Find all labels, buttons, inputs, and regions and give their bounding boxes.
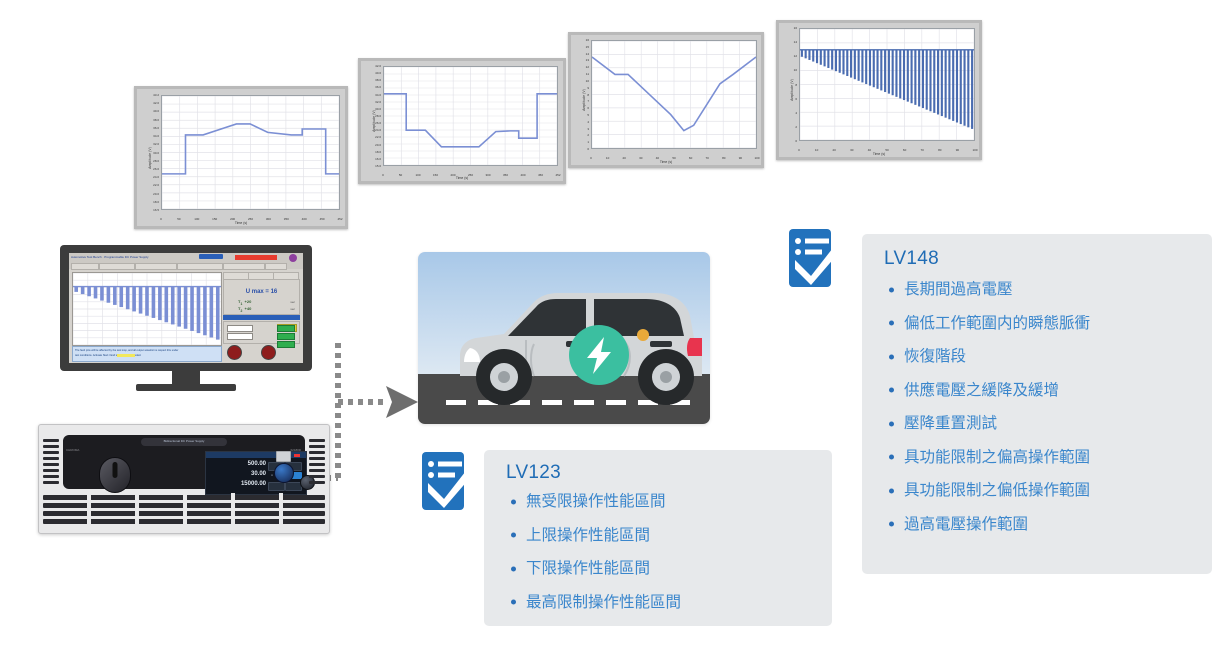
- bar: [884, 50, 886, 92]
- menu-item-2[interactable]: [135, 263, 177, 270]
- bar: [892, 50, 894, 95]
- bar: [956, 50, 958, 123]
- bar: [850, 50, 852, 78]
- software-control-pane: U max = 16 T1 +20 sec T2 +40 sec: [223, 272, 300, 344]
- led-indicator-0: [277, 325, 295, 332]
- section-bar: [223, 315, 300, 320]
- bar: [210, 287, 214, 338]
- control-box: [223, 321, 300, 344]
- y-tick: 15.0: [375, 164, 381, 168]
- software-note: The fault pins will be affected by the t…: [72, 346, 222, 362]
- bar: [899, 50, 901, 99]
- y-tick: 7: [587, 99, 589, 103]
- bar: [107, 287, 111, 303]
- readout-box: U max = 16 T1 +20 sec T2 +40 sec: [223, 279, 300, 315]
- psu-front-face: Bidirectional DC Power Supply CHROMA 621…: [63, 435, 305, 489]
- bar: [197, 287, 201, 334]
- y-tick: 36.0: [375, 85, 381, 89]
- psu-value-1: 30.00: [251, 471, 266, 477]
- y-tick: 18.0: [375, 150, 381, 154]
- panel-lv123-title: LV123: [506, 462, 561, 484]
- list-item: 最高限制操作性能區間: [510, 595, 681, 611]
- note-highlight: [117, 354, 135, 357]
- vent-r-6: [309, 475, 325, 478]
- bar: [861, 50, 863, 83]
- y-tick: 14: [586, 52, 589, 56]
- readout-row-1: T2 +40: [238, 306, 251, 313]
- software-title: Automotive Test Bench · Programmable DC …: [71, 255, 148, 259]
- bar: [145, 287, 149, 316]
- bar: [812, 50, 814, 62]
- y-tick: 8: [795, 83, 797, 87]
- y-tick: 22.0: [153, 183, 159, 187]
- psu-value-0: 500.00: [248, 461, 266, 467]
- vent-r-3: [309, 457, 325, 460]
- led-indicator-2: [277, 341, 295, 348]
- y-tick: 16: [794, 26, 797, 30]
- psu-value-2: 15000.00: [241, 481, 266, 487]
- list-item: 具功能限制之偏高操作範圍: [888, 450, 1090, 466]
- vent-l-0: [43, 439, 59, 442]
- y-tick: 9: [587, 86, 589, 90]
- psu-main-dial[interactable]: [99, 457, 131, 493]
- vent-l-6: [43, 475, 59, 478]
- grille-sep-0: [87, 493, 91, 527]
- bar: [216, 287, 220, 340]
- y-tick: 38.0: [375, 78, 381, 82]
- knob-button-1[interactable]: [261, 345, 276, 360]
- psu-lcd-header: [206, 452, 306, 458]
- panel-lv123: LV123 無受限操作性能區間上限操作性能區間下限操作性能區間最高限制操作性能區…: [484, 450, 832, 626]
- software-menubar: [69, 262, 303, 269]
- y-tick: 26.0: [153, 167, 159, 171]
- y-tick: 2: [795, 125, 797, 129]
- bar: [827, 50, 829, 68]
- chart-3-yticks: 012345678910111213141516: [577, 40, 589, 149]
- grille-sep-3: [231, 493, 235, 527]
- bar: [81, 287, 85, 295]
- diagram-canvas: Amplitude (V) 16.518.020.022.024.026.028…: [0, 0, 1230, 664]
- y-tick: 28.0: [375, 114, 381, 118]
- y-tick: 3: [587, 127, 589, 131]
- software-chart-svg: [73, 273, 221, 345]
- taillight: [687, 338, 702, 356]
- bar: [139, 287, 143, 314]
- vent-l-2: [43, 451, 59, 454]
- psu-unit-1: A: [271, 473, 273, 477]
- vent-r-1: [309, 445, 325, 448]
- y-tick: 38.0: [153, 118, 159, 122]
- vent-r-2: [309, 451, 325, 454]
- bar: [846, 50, 848, 76]
- psu-badge-text: Bidirectional DC Power Supply: [164, 439, 205, 443]
- vent-l-1: [43, 445, 59, 448]
- y-tick: 0: [587, 147, 589, 151]
- y-tick: 24.0: [375, 128, 381, 132]
- input-field-1[interactable]: [227, 333, 253, 340]
- bar: [971, 50, 973, 129]
- record-indicator-icon: [294, 454, 300, 457]
- menu-item-5[interactable]: [265, 263, 287, 270]
- wheel-rear: [638, 349, 694, 405]
- bar: [854, 50, 856, 79]
- y-tick: 6: [795, 97, 797, 101]
- y-tick: 42.0: [153, 101, 159, 105]
- chart-2-svg: [384, 67, 557, 165]
- bar: [876, 50, 878, 89]
- bar: [100, 287, 104, 301]
- bar: [824, 50, 826, 67]
- y-tick: 1: [587, 140, 589, 144]
- y-tick: 36.0: [153, 126, 159, 130]
- bar: [126, 287, 130, 310]
- bar: [839, 50, 841, 73]
- monitor-screen: Automotive Test Bench · Programmable DC …: [69, 253, 303, 363]
- bar: [929, 50, 931, 111]
- y-tick: 2: [587, 133, 589, 137]
- usb-port-icon: [276, 451, 291, 462]
- chart-2-plot: [383, 66, 558, 166]
- y-tick: 5: [587, 113, 589, 117]
- software-chart-pane: [72, 272, 222, 346]
- psu-rotary-encoder[interactable]: [274, 463, 294, 483]
- checklist-check-icon: [787, 229, 839, 287]
- bar: [922, 50, 924, 108]
- bar: [963, 50, 965, 126]
- vent-r-4: [309, 463, 325, 466]
- bar: [171, 287, 175, 325]
- bar: [895, 50, 897, 97]
- y-tick: 16.5: [153, 208, 159, 212]
- bar: [87, 287, 91, 297]
- bar: [177, 287, 181, 327]
- vent-r-7: [309, 481, 325, 484]
- y-tick: 15: [586, 45, 589, 49]
- bidirectional-dc-power-supply: Bidirectional DC Power Supply CHROMA 621…: [38, 424, 328, 532]
- chart-4-svg: [800, 29, 974, 140]
- bar: [937, 50, 939, 115]
- door-handle-rear: [650, 341, 672, 347]
- bar: [869, 50, 871, 86]
- chart-3-xlabel: Time (s): [571, 160, 761, 164]
- bar: [967, 50, 969, 127]
- readout-umax: U max = 16: [246, 289, 278, 295]
- y-tick: 20.0: [375, 143, 381, 147]
- bar: [888, 50, 890, 94]
- bar: [816, 50, 818, 63]
- status-bar: [235, 255, 277, 260]
- list-item: 無受限操作性能區間: [510, 494, 681, 510]
- readout-row-1-unit: sec: [290, 307, 295, 311]
- input-field-0[interactable]: [227, 325, 253, 332]
- bar: [152, 287, 156, 318]
- arrowhead-icon: [386, 386, 418, 418]
- chart-card-2: Amplitude (V) 15.016.018.020.022.024.026…: [358, 58, 566, 184]
- psu-dial-nub: [113, 462, 118, 478]
- bar: [158, 287, 162, 321]
- bar: [203, 287, 207, 336]
- bar: [842, 50, 844, 75]
- checklist-check-icon: [420, 452, 472, 510]
- y-tick: 32.0: [375, 100, 381, 104]
- y-tick: 16.0: [375, 157, 381, 161]
- chart-1-xlabel: Time (s): [137, 221, 345, 225]
- bar: [190, 287, 194, 331]
- y-tick: 4: [795, 111, 797, 115]
- y-tick: 34.0: [153, 134, 159, 138]
- chart-2-xlabel: Time (s): [361, 176, 563, 180]
- y-tick: 20.0: [153, 192, 159, 196]
- bar: [926, 50, 928, 110]
- y-tick: 26.0: [375, 121, 381, 125]
- chart-3-inner: Amplitude (V) 012345678910111213141516 0…: [571, 35, 761, 165]
- y-tick: 28.0: [153, 159, 159, 163]
- bar: [74, 287, 78, 292]
- bar: [184, 287, 188, 329]
- list-item: 過高電壓操作範圍: [888, 517, 1090, 533]
- bar: [948, 50, 950, 119]
- y-tick: 10: [586, 79, 589, 83]
- menu-item-0[interactable]: [71, 263, 99, 270]
- vent-l-3: [43, 457, 59, 460]
- bar: [918, 50, 920, 107]
- grille-sep-4: [279, 493, 283, 527]
- chart-4-xlabel: Time (s): [779, 152, 979, 156]
- grille-sep-1: [135, 493, 139, 527]
- grille-sep-2: [183, 493, 187, 527]
- chart-card-3: Amplitude (V) 012345678910111213141516 0…: [568, 32, 764, 168]
- desktop-monitor: Automotive Test Bench · Programmable DC …: [60, 245, 312, 395]
- y-tick: 34.0: [375, 93, 381, 97]
- y-tick: 8: [587, 93, 589, 97]
- monitor-base: [136, 384, 236, 391]
- list-item: 上限操作性能區間: [510, 528, 681, 544]
- bar: [873, 50, 875, 87]
- vent-r-5: [309, 469, 325, 472]
- bar: [960, 50, 962, 124]
- chart-4-yticks: 0246810121416: [785, 28, 797, 141]
- list-item: 供應電壓之緩降及緩增: [888, 383, 1090, 399]
- list-item: 偏低工作範圍内的瞬態脈衝: [888, 316, 1090, 332]
- list-item: 下限操作性能區間: [510, 561, 681, 577]
- panel-lv148-list: 長期間過高電壓偏低工作範圍内的瞬態脈衝恢復階段供應電壓之緩降及緩增壓降重置測試具…: [888, 282, 1090, 550]
- bar: [914, 50, 916, 105]
- menu-item-4[interactable]: [223, 263, 265, 270]
- y-tick: 11: [586, 72, 589, 76]
- chart-1-svg: [162, 96, 339, 209]
- bar: [801, 50, 803, 57]
- y-tick: 12: [586, 65, 589, 69]
- bar: [945, 50, 947, 118]
- fuel-cap-indicator: [637, 329, 649, 341]
- panel-lv123-list: 無受限操作性能區間上限操作性能區間下限操作性能區間最高限制操作性能區間: [510, 494, 681, 628]
- electric-vehicle-illustration: [418, 252, 710, 424]
- y-tick: 42.0: [375, 64, 381, 68]
- y-tick: 13: [586, 58, 589, 62]
- bar: [911, 50, 913, 103]
- bar: [165, 287, 169, 323]
- y-tick: 22.0: [375, 135, 381, 139]
- app-logo-icon: [289, 254, 297, 262]
- chart-card-4: Amplitude (V) 0246810121416 010203040506…: [776, 20, 982, 160]
- bar: [113, 287, 117, 305]
- list-item: 長期間過高電壓: [888, 282, 1090, 298]
- chart-2-yticks: 15.016.018.020.022.024.026.028.030.032.0…: [367, 66, 381, 166]
- panel-lv148: LV148 長期間過高電壓偏低工作範圍内的瞬態脈衝恢復階段供應電壓之緩降及緩增壓…: [862, 234, 1212, 574]
- chart-1-inner: Amplitude (V) 16.518.020.022.024.026.028…: [137, 89, 345, 226]
- y-tick: 40.0: [153, 109, 159, 113]
- knob-button-0[interactable]: [227, 345, 242, 360]
- bar: [831, 50, 833, 70]
- bar: [941, 50, 943, 116]
- y-tick: 0: [795, 139, 797, 143]
- bar: [880, 50, 882, 91]
- chart-3-svg: [592, 41, 756, 148]
- list-item: 恢復階段: [888, 349, 1090, 365]
- vent-r-0: [309, 439, 325, 442]
- vent-l-4: [43, 463, 59, 466]
- y-tick: 30.0: [375, 107, 381, 111]
- bar: [903, 50, 905, 100]
- title-highlight: [199, 254, 223, 259]
- bar: [808, 50, 810, 60]
- psu-body: Bidirectional DC Power Supply CHROMA 621…: [38, 424, 330, 534]
- readout-row-0-unit: sec: [290, 300, 295, 304]
- y-tick: 43.2: [153, 93, 159, 97]
- note-line-1: The fault pins will be affected by the t…: [75, 349, 178, 352]
- y-tick: 16: [586, 38, 589, 42]
- bar: [132, 287, 136, 312]
- bar: [858, 50, 860, 81]
- chart-card-1: Amplitude (V) 16.518.020.022.024.026.028…: [134, 86, 348, 229]
- bar: [933, 50, 935, 113]
- bar: [820, 50, 822, 65]
- bar: [119, 287, 123, 308]
- monitor-bezel: Automotive Test Bench · Programmable DC …: [60, 245, 312, 371]
- y-tick: 14: [794, 40, 797, 44]
- psu-softkey-3[interactable]: [268, 482, 285, 491]
- y-tick: 40.0: [375, 71, 381, 75]
- bar: [952, 50, 954, 121]
- list-item: 壓降重置測試: [888, 416, 1090, 432]
- chart-1-plot: [161, 95, 340, 210]
- menu-item-3[interactable]: [177, 263, 223, 270]
- vent-l-5: [43, 469, 59, 472]
- wheel-front: [476, 349, 532, 405]
- menu-item-1[interactable]: [99, 263, 135, 270]
- software-tabs: [223, 272, 300, 278]
- y-tick: 4: [587, 120, 589, 124]
- chart-4-plot: [799, 28, 975, 141]
- bar: [907, 50, 909, 102]
- y-tick: 30.0: [153, 151, 159, 155]
- psu-brand: CHROMA: [66, 448, 79, 452]
- bar: [805, 50, 807, 59]
- vent-l-7: [43, 481, 59, 484]
- panel-lv148-title: LV148: [884, 248, 939, 270]
- y-tick: 18.0: [153, 200, 159, 204]
- bar: [865, 50, 867, 84]
- bar: [835, 50, 837, 71]
- y-tick: 32.0: [153, 142, 159, 146]
- chart-3-plot: [591, 40, 757, 149]
- chart-2-inner: Amplitude (V) 15.016.018.020.022.024.026…: [361, 61, 563, 181]
- y-tick: 6: [587, 106, 589, 110]
- y-tick: 10: [794, 68, 797, 72]
- list-item: 具功能限制之偏低操作範圍: [888, 483, 1090, 499]
- led-indicator-1: [277, 333, 295, 340]
- chart-4-inner: Amplitude (V) 0246810121416 010203040506…: [779, 23, 979, 157]
- readout-row-0: T1 +20: [238, 299, 251, 306]
- y-tick: 24.0: [153, 175, 159, 179]
- bar: [94, 287, 98, 299]
- y-tick: 12: [794, 54, 797, 58]
- chart-1-yticks: 16.518.020.022.024.026.028.030.032.034.0…: [145, 95, 159, 210]
